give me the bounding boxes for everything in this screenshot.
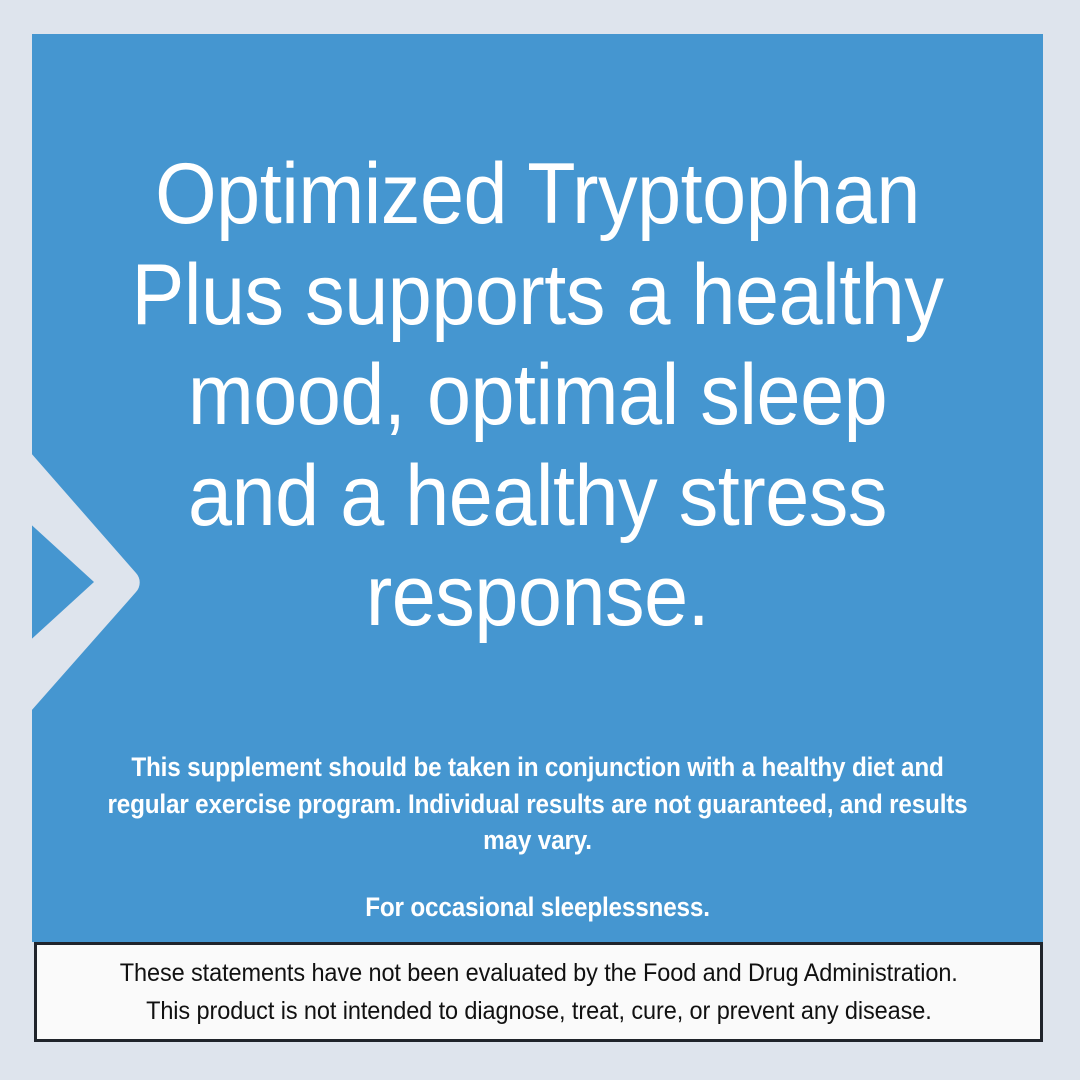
fda-disclaimer-line-2: This product is not intended to diagnose… (146, 992, 932, 1030)
page-title: Optimized Tryptophan Plus supports a hea… (72, 144, 1002, 647)
fda-disclaimer-line-1: These statements have not been evaluated… (119, 954, 957, 992)
supplement-usage-note: This supplement should be taken in conju… (83, 749, 993, 859)
product-claim-card: Optimized Tryptophan Plus supports a hea… (0, 0, 1080, 1080)
fda-disclaimer-box: These statements have not been evaluated… (34, 942, 1043, 1042)
intended-use-note: For occasional sleeplessness. (83, 889, 993, 926)
blue-content-panel: Optimized Tryptophan Plus supports a hea… (32, 34, 1043, 942)
